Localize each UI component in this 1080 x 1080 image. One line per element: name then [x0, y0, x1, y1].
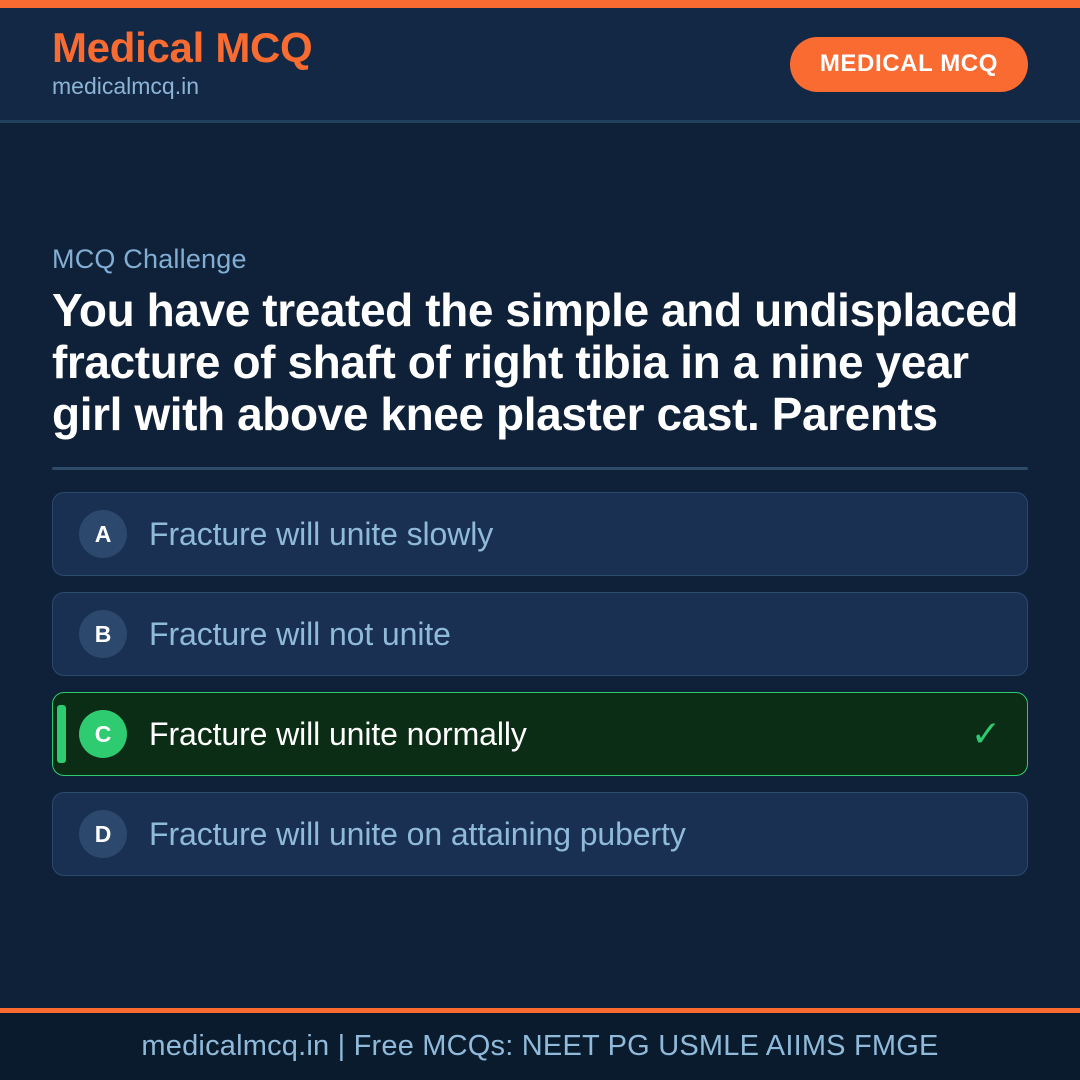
eyebrow-label: MCQ Challenge	[52, 243, 1028, 275]
brand-title: Medical MCQ	[52, 26, 312, 71]
top-accent-bar	[0, 0, 1080, 8]
question-divider	[52, 467, 1028, 470]
option-label: Fracture will unite on attaining puberty	[149, 817, 983, 852]
option-label: Fracture will not unite	[149, 617, 983, 652]
option-letter-badge: C	[79, 710, 127, 758]
header-badge[interactable]: MEDICAL MCQ	[790, 37, 1028, 92]
brand: Medical MCQ medicalmcq.in	[52, 26, 312, 102]
correct-accent-bar	[57, 705, 66, 763]
option-label: Fracture will unite normally	[149, 717, 953, 752]
check-icon: ✓	[971, 716, 1001, 752]
option-label: Fracture will unite slowly	[149, 517, 983, 552]
brand-url: medicalmcq.in	[52, 72, 312, 102]
options-list: A Fracture will unite slowly B Fracture …	[52, 492, 1028, 876]
option-row-b[interactable]: B Fracture will not unite	[52, 592, 1028, 676]
footer: medicalmcq.in | Free MCQs: NEET PG USMLE…	[0, 1008, 1080, 1080]
option-letter-badge: A	[79, 510, 127, 558]
option-letter-badge: D	[79, 810, 127, 858]
footer-text: medicalmcq.in | Free MCQs: NEET PG USMLE…	[141, 1030, 938, 1063]
option-row-a[interactable]: A Fracture will unite slowly	[52, 492, 1028, 576]
option-letter-badge: B	[79, 610, 127, 658]
question-text: You have treated the simple and undispla…	[52, 285, 1028, 441]
mcq-card: Medical MCQ medicalmcq.in MEDICAL MCQ MC…	[0, 0, 1080, 1080]
option-row-d[interactable]: D Fracture will unite on attaining puber…	[52, 792, 1028, 876]
option-row-c[interactable]: C Fracture will unite normally ✓	[52, 692, 1028, 776]
main-content: MCQ Challenge You have treated the simpl…	[0, 123, 1080, 1008]
header: Medical MCQ medicalmcq.in MEDICAL MCQ	[0, 8, 1080, 123]
